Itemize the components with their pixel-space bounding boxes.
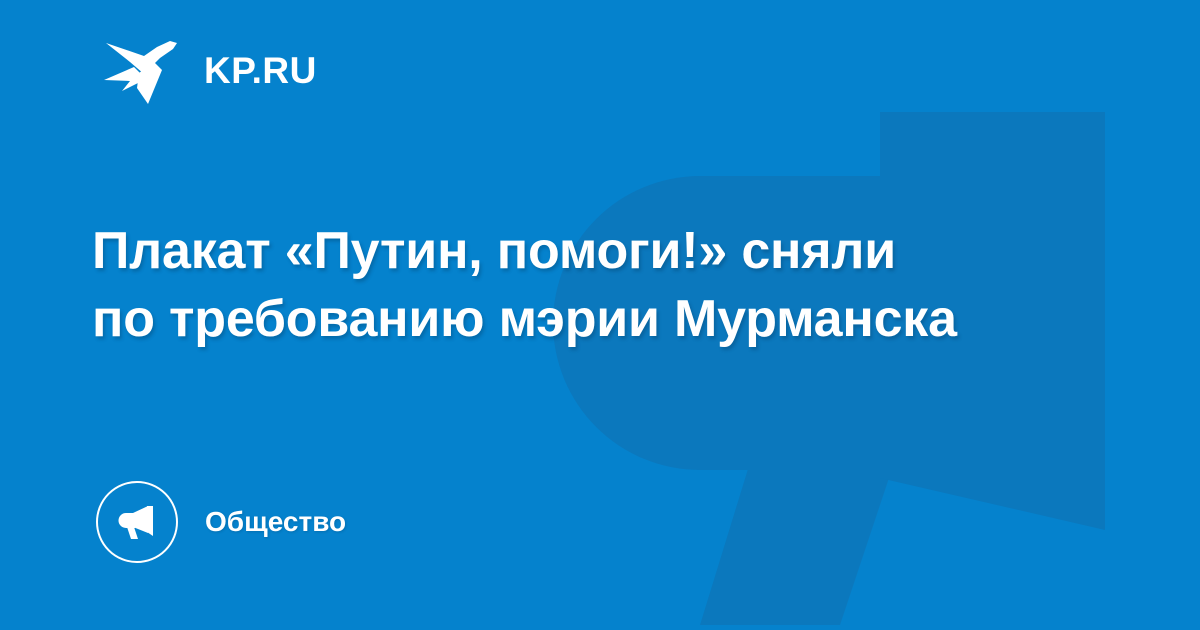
category-badge[interactable]: Общество (96, 481, 346, 563)
swallow-bird-icon (104, 34, 182, 106)
brand-header: KP.RU (104, 34, 317, 106)
page-title: Плакат «Путин, помоги!» сняли по требова… (92, 218, 1102, 353)
category-label: Общество (205, 508, 346, 536)
page-title-line-2: по требованию мэрии Мурманска (92, 286, 1102, 354)
brand-name: KP.RU (204, 52, 317, 89)
megaphone-icon (96, 481, 178, 563)
share-card: KP.RU Плакат «Путин, помоги!» сняли по т… (0, 0, 1200, 630)
page-title-line-1: Плакат «Путин, помоги!» сняли (92, 218, 1102, 286)
